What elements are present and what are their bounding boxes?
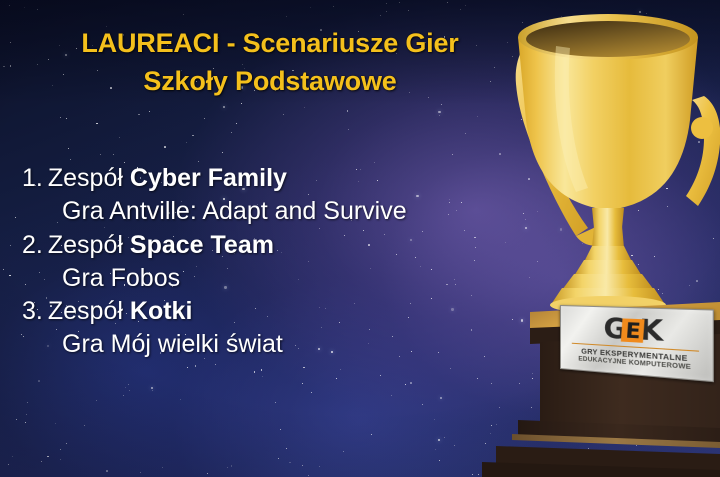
winner-team-word: Zespół bbox=[48, 231, 123, 259]
winner-heading: 3.ZespółKotki bbox=[22, 295, 522, 328]
logo-letter-e: E bbox=[621, 318, 645, 342]
trophy-right-handle bbox=[686, 96, 720, 206]
title-line-2: Szkoły Podstawowe bbox=[0, 62, 540, 100]
winner-game-title: Gra Mój wielki świat bbox=[22, 328, 522, 361]
winner-entry: 3.ZespółKotki Gra Mój wielki świat bbox=[22, 295, 522, 362]
winner-game-title: Gra Fobos bbox=[22, 262, 522, 295]
trophy-stem bbox=[550, 208, 666, 314]
winners-list: 1.ZespółCyber Family Gra Antville: Adapt… bbox=[22, 162, 522, 362]
winner-team-word: Zespół bbox=[48, 164, 123, 192]
winner-team-name: Kotki bbox=[130, 297, 193, 325]
winner-entry: 1.ZespółCyber Family Gra Antville: Adapt… bbox=[22, 162, 522, 229]
winner-rank: 2. bbox=[22, 231, 43, 259]
trophy-cup bbox=[518, 14, 698, 210]
winner-team-name: Cyber Family bbox=[130, 164, 287, 192]
winner-entry: 2.ZespółSpace Team Gra Fobos bbox=[22, 229, 522, 296]
winner-heading: 1.ZespółCyber Family bbox=[22, 162, 522, 195]
poster-title: LAUREACI - Scenariusze Gier Szkoły Podst… bbox=[0, 24, 540, 101]
geek-wordmark: G E K bbox=[603, 315, 662, 347]
winner-rank: 1. bbox=[22, 164, 43, 192]
geek-logo-plaque: G E K GRY EKSPERYMENTALNE EDUKACYJNE KOM… bbox=[560, 305, 714, 382]
winner-heading: 2.ZespółSpace Team bbox=[22, 229, 522, 262]
title-line-1: LAUREACI - Scenariusze Gier bbox=[0, 24, 540, 62]
winner-rank: 3. bbox=[22, 297, 43, 325]
winner-game-title: Gra Antville: Adapt and Survive bbox=[22, 195, 522, 228]
winner-team-name: Space Team bbox=[130, 231, 274, 259]
poster-canvas: G E K GRY EKSPERYMENTALNE EDUKACYJNE KOM… bbox=[0, 0, 720, 477]
winner-team-word: Zespół bbox=[48, 297, 123, 325]
